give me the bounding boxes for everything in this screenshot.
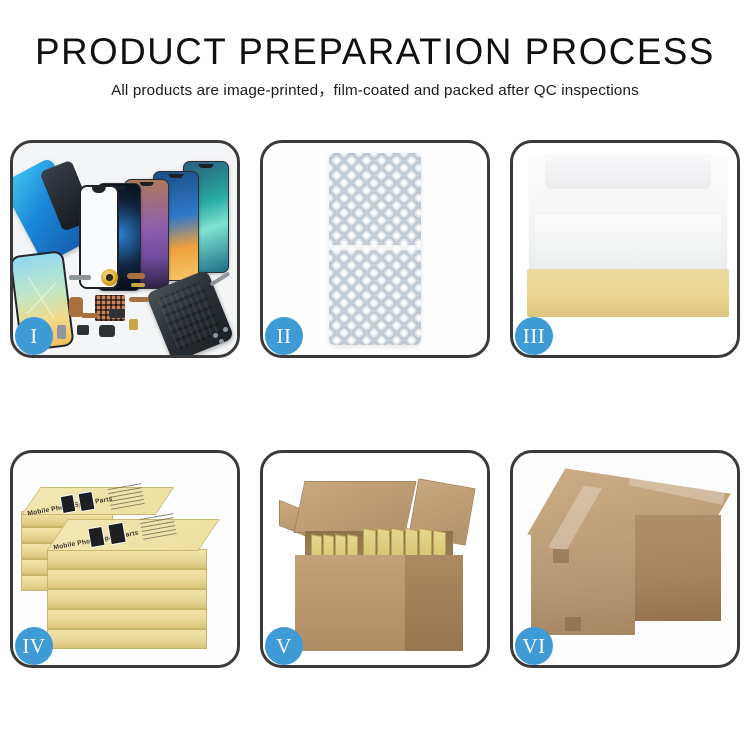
step-badge-5: V — [265, 627, 303, 665]
box-screen-thumbnail — [60, 494, 77, 514]
foam-insert-image — [535, 215, 721, 269]
retail-box-image — [47, 549, 207, 569]
page-subtitle: All products are image-printed，film-coat… — [0, 81, 750, 101]
step-badge-2: II — [265, 317, 303, 355]
screw-image — [223, 327, 228, 332]
page-title: PRODUCT PREPARATION PROCESS — [4, 30, 747, 74]
screw-image — [213, 333, 218, 338]
step-badge-4: IV — [15, 627, 53, 665]
retail-box-image — [47, 589, 207, 609]
spare-part-image — [81, 313, 99, 318]
process-step-2: II — [260, 140, 490, 358]
step-badge-3: III — [515, 317, 553, 355]
carton-front-face-image — [295, 555, 405, 651]
process-step-grid: I II III — [10, 140, 740, 688]
step-badge-6: VI — [515, 627, 553, 665]
carton-handle-cutout-image — [565, 617, 581, 631]
spare-part-image — [129, 319, 138, 330]
spare-part-image — [69, 275, 91, 280]
carton-front-face-image — [531, 531, 635, 635]
process-step-3: III — [510, 140, 740, 358]
carton-handle-cutout-image — [553, 549, 569, 563]
spare-part-image — [77, 325, 89, 335]
header: PRODUCT PREPARATION PROCESS All products… — [0, 30, 750, 101]
box-screen-thumbnail — [77, 491, 95, 512]
spare-part-image — [127, 273, 145, 279]
carton-side-face-image — [635, 515, 721, 621]
bubble-wrapped-product-image — [329, 153, 421, 345]
tweezers-image — [210, 271, 231, 286]
kraft-tray-image — [527, 269, 729, 317]
process-step-1: I — [10, 140, 240, 358]
spare-part-image — [109, 309, 125, 318]
box-screen-thumbnail — [107, 522, 126, 545]
speaker-coil-image — [101, 269, 118, 286]
product-preparation-infographic: PRODUCT PREPARATION PROCESS All products… — [0, 0, 750, 750]
retail-box-image — [47, 609, 207, 629]
retail-box-image — [47, 569, 207, 589]
process-step-4: Mobile Phone Spare Parts Mobile Phone Sp… — [10, 450, 240, 668]
spare-part-image — [131, 283, 145, 287]
step-badge-1: I — [15, 317, 53, 355]
spare-part-image — [57, 325, 66, 339]
carton-side-face-image — [405, 555, 463, 651]
box-screen-thumbnail — [87, 526, 105, 548]
spare-part-image — [99, 325, 115, 337]
retail-box-image — [47, 629, 207, 649]
spare-part-image — [129, 297, 149, 302]
process-step-6: VI — [510, 450, 740, 668]
carton-flap-back-image — [293, 481, 416, 533]
bubble-wrap-seam — [329, 245, 421, 250]
process-step-5: V — [260, 450, 490, 668]
screw-image — [219, 339, 224, 344]
